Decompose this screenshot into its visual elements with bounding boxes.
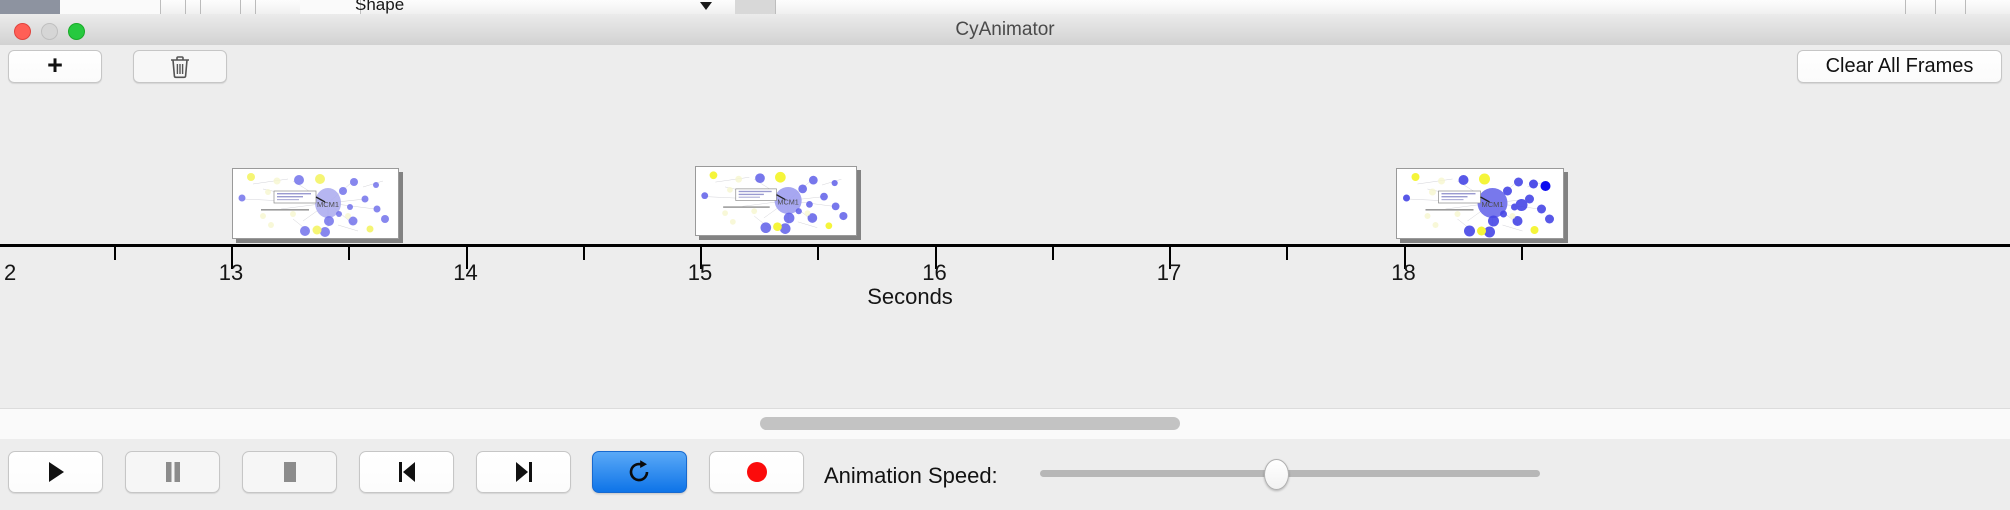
play-button[interactable] (8, 451, 103, 493)
bg-divider (185, 0, 186, 14)
axis-tick-minor (583, 247, 585, 260)
axis-tick-minor (1521, 247, 1523, 260)
trash-icon (169, 55, 191, 79)
delete-frame-button[interactable] (133, 50, 227, 83)
window-title: CyAnimator (0, 14, 2010, 45)
network-graph-preview: MCM1 (233, 169, 398, 238)
axis-tick-label: 2 (4, 260, 16, 286)
cyanimator-window: Shape CyAnimator + Clear All F (0, 0, 2010, 510)
play-icon (46, 461, 66, 483)
axis-tick-label: 16 (922, 260, 946, 286)
axis-tick-minor (114, 247, 116, 260)
stop-icon (281, 461, 299, 483)
svg-text:MCM1: MCM1 (317, 200, 339, 209)
stop-button[interactable] (242, 451, 337, 493)
timeline-panel[interactable]: MCM1 (0, 90, 2010, 408)
skip-back-button[interactable] (359, 451, 454, 493)
axis-tick-minor (817, 247, 819, 260)
plus-icon: + (47, 52, 63, 79)
bg-divider (240, 0, 241, 14)
bg-tab-selected (0, 0, 61, 14)
record-button[interactable] (709, 451, 804, 493)
axis-tick-label: 17 (1157, 260, 1181, 286)
bg-divider (200, 0, 201, 14)
bg-divider (255, 0, 256, 14)
network-graph-preview: MCM1 (696, 167, 856, 235)
frame-thumbnail[interactable]: MCM1 (1396, 168, 1564, 239)
playback-control-bar: Animation Speed: (0, 439, 2010, 510)
scrollbar-thumb[interactable] (760, 417, 1180, 430)
toolbar: + Clear All Frames (0, 45, 2010, 91)
axis-tick-label: 13 (219, 260, 243, 286)
axis-tick-label: 15 (688, 260, 712, 286)
loop-button[interactable] (592, 451, 687, 493)
bg-tab (300, 0, 361, 14)
record-icon (745, 460, 769, 484)
axis-tick-minor (348, 247, 350, 260)
animation-speed-thumb[interactable] (1264, 459, 1289, 490)
bg-divider (1905, 0, 1906, 14)
axis-tick-label: 18 (1391, 260, 1415, 286)
network-graph-preview: MCM1 (1397, 169, 1563, 238)
bg-divider (1935, 0, 1936, 14)
skip-back-icon (397, 461, 417, 483)
axis-tick-minor (1052, 247, 1054, 260)
timeline-axis (0, 244, 2010, 247)
svg-text:MCM1: MCM1 (1481, 200, 1503, 209)
loop-icon (628, 459, 652, 485)
axis-tick-minor (1286, 247, 1288, 260)
pause-icon (164, 461, 182, 483)
title-bar[interactable]: CyAnimator (0, 14, 2010, 46)
frame-thumbnail[interactable]: MCM1 (232, 168, 399, 239)
clear-all-frames-button[interactable]: Clear All Frames (1797, 50, 2002, 83)
axis-tick-label: 14 (453, 260, 477, 286)
bg-caret-icon (700, 2, 712, 10)
animation-speed-slider[interactable] (1040, 470, 1540, 477)
add-frame-button[interactable]: + (8, 50, 102, 83)
skip-forward-button[interactable] (476, 451, 571, 493)
background-window-strip: Shape (0, 0, 2010, 15)
animation-speed-label: Animation Speed: (824, 463, 998, 489)
skip-forward-icon (514, 461, 534, 483)
bg-divider (1965, 0, 1966, 14)
frame-thumbnail[interactable]: MCM1 (695, 166, 857, 236)
svg-text:MCM1: MCM1 (777, 197, 798, 206)
horizontal-scrollbar[interactable] (0, 408, 2010, 440)
axis-title: Seconds (867, 284, 953, 310)
pause-button[interactable] (125, 451, 220, 493)
bg-tab (60, 0, 161, 14)
bg-tab (735, 0, 776, 14)
bg-shape-label: Shape (355, 0, 404, 15)
clear-all-frames-label: Clear All Frames (1826, 55, 1974, 78)
